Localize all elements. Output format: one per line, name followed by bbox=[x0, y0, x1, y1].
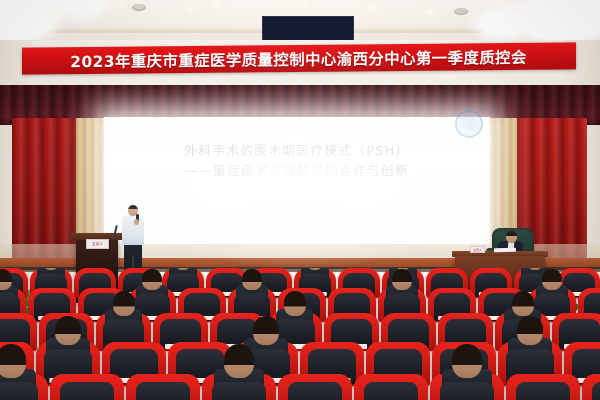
audience-member-head bbox=[517, 316, 543, 345]
seat-shell bbox=[278, 374, 352, 400]
audience-member-head bbox=[0, 344, 26, 377]
seat-shell bbox=[50, 374, 124, 400]
audience-seating bbox=[0, 268, 600, 400]
moderator-head bbox=[506, 231, 517, 243]
seat-cushion bbox=[592, 382, 600, 400]
audience-seat bbox=[582, 374, 600, 400]
audience-member-head bbox=[55, 316, 81, 345]
audience-seat bbox=[354, 374, 428, 400]
slide-affiliation-line-2: 麻醉与危重医学研究所 bbox=[130, 209, 464, 219]
seat-cushion bbox=[440, 382, 495, 400]
ceiling-downlight bbox=[52, 14, 59, 18]
audience-member-head bbox=[512, 291, 534, 316]
ceiling-downlight bbox=[427, 10, 434, 14]
audience-seat bbox=[278, 374, 352, 400]
audience-member-head bbox=[113, 291, 135, 316]
audience-member-head bbox=[242, 269, 261, 291]
audience-seat bbox=[202, 374, 276, 400]
seat-row bbox=[0, 374, 600, 400]
seat-cushion bbox=[60, 382, 115, 400]
ceiling-downlight bbox=[186, 7, 193, 11]
moderator-name-card: 主持人 bbox=[470, 246, 485, 253]
ceiling-downlight bbox=[214, 3, 221, 7]
audience-member-head bbox=[392, 269, 411, 291]
audience-member-head bbox=[0, 269, 12, 291]
ceiling-speaker bbox=[454, 8, 468, 15]
audience-seat bbox=[506, 374, 580, 400]
audience-seat bbox=[0, 374, 48, 400]
seat-shell bbox=[506, 374, 580, 400]
ceiling-downlight bbox=[496, 1, 503, 5]
event-banner-text: 2023年重庆市重症医学质量控制中心渝西分中心第一季度质控会 bbox=[71, 45, 528, 71]
audience-seat bbox=[126, 374, 200, 400]
audience-member-head bbox=[284, 291, 306, 316]
seat-cushion bbox=[516, 382, 571, 400]
podium-name-card-text: 主讲人 bbox=[92, 242, 103, 247]
audience-member-head bbox=[224, 344, 254, 377]
seat-shell bbox=[354, 374, 428, 400]
ceiling-downlight bbox=[368, 6, 375, 10]
ceiling-downlight bbox=[118, 3, 125, 7]
audience-member-head bbox=[452, 344, 482, 377]
audience-seat bbox=[430, 374, 504, 400]
seat-shell bbox=[582, 374, 600, 400]
slide-affiliation-line-3: 报告人 bbox=[130, 219, 464, 229]
slide-affiliation-line-1: 陆军军医大学西南医院麻醉科 bbox=[130, 199, 464, 209]
seat-cushion bbox=[0, 382, 38, 400]
podium-name-card: 主讲人 bbox=[86, 239, 109, 249]
audience-member-head bbox=[542, 269, 561, 291]
slide-affiliation: 陆军军医大学西南医院麻醉科 麻醉与危重医学研究所 报告人 bbox=[130, 199, 464, 229]
moderator-name-card-text: 主持人 bbox=[473, 248, 482, 252]
speaker-hand bbox=[134, 219, 139, 225]
seat-cushion bbox=[212, 382, 267, 400]
ceiling-speaker bbox=[132, 4, 146, 11]
seat-cushion bbox=[288, 382, 343, 400]
seat-cushion bbox=[136, 382, 191, 400]
audience-member-head bbox=[253, 316, 279, 345]
ceiling-downlight bbox=[302, 1, 309, 5]
audience-seat bbox=[50, 374, 124, 400]
slide-subtitle: ——重症医学与麻醉学的合作与创新 bbox=[110, 160, 484, 179]
seat-cushion bbox=[364, 382, 419, 400]
slide-title: 外科手术的围术期医疗模式（PSH） bbox=[110, 140, 484, 159]
seat-shell bbox=[126, 374, 200, 400]
conference-photo: 2023年重庆市重症医学质量控制中心渝西分中心第一季度质控会 外科手术的围术期医… bbox=[0, 0, 600, 400]
event-banner: 2023年重庆市重症医学质量控制中心渝西分中心第一季度质控会 bbox=[22, 42, 576, 74]
ceiling-projector-panel bbox=[262, 16, 354, 42]
institution-seal-watermark-icon bbox=[455, 110, 483, 138]
desk-papers bbox=[494, 248, 516, 253]
ceiling-oval-light-3 bbox=[478, 10, 530, 36]
audience-member-head bbox=[142, 269, 161, 291]
